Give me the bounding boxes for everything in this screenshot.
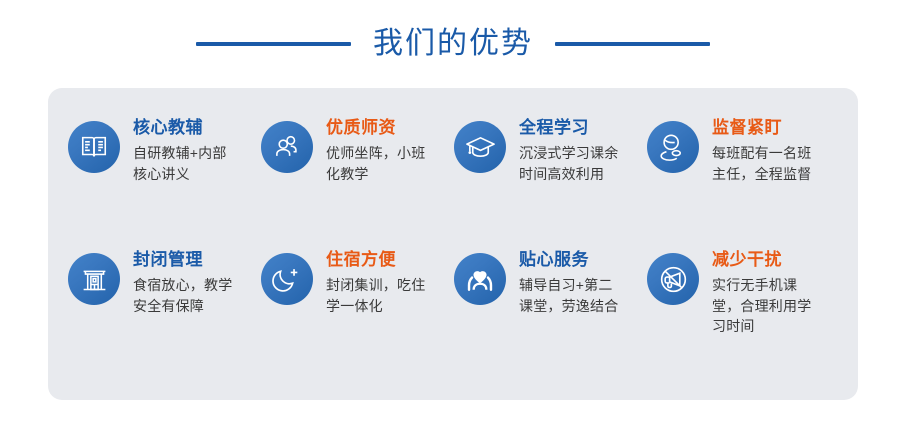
feature-title: 核心教辅 xyxy=(133,118,237,138)
feature-desc: 辅导自习+第二课堂，劳逸结合 xyxy=(519,275,623,316)
page-title: 我们的优势 xyxy=(373,29,533,59)
section-header: 我们的优势 xyxy=(0,0,906,88)
feature-item-full-study[interactable]: 全程学习 沉浸式学习课余时间高效利用 xyxy=(454,118,647,244)
feature-desc: 每班配有一名班主任，全程监督 xyxy=(712,143,816,184)
header-rule-right xyxy=(555,42,710,46)
feature-item-less-distraction[interactable]: 减少干扰 实行无手机课堂，合理利用学习时间 xyxy=(647,250,840,376)
feature-desc: 沉浸式学习课余时间高效利用 xyxy=(519,143,623,184)
feature-text: 减少干扰 实行无手机课堂，合理利用学习时间 xyxy=(712,250,816,336)
feature-title: 优质师资 xyxy=(326,118,430,138)
moon-plus-icon xyxy=(261,253,313,305)
graduation-cap-icon xyxy=(454,121,506,173)
feature-text: 核心教辅 自研教辅+内部核心讲义 xyxy=(133,118,237,184)
feature-item-core-materials[interactable]: 核心教辅 自研教辅+内部核心讲义 xyxy=(68,118,261,244)
feature-text: 优质师资 优师坐阵，小班化教学 xyxy=(326,118,430,184)
feature-title: 贴心服务 xyxy=(519,250,623,270)
hands-heart-icon xyxy=(454,253,506,305)
feature-desc: 优师坐阵，小班化教学 xyxy=(326,143,430,184)
advantages-grid: 核心教辅 自研教辅+内部核心讲义 优质师资 优师坐阵，小班化教学 xyxy=(68,118,840,376)
feature-title: 封闭管理 xyxy=(133,250,237,270)
feature-text: 住宿方便 封闭集训，吃住学一体化 xyxy=(326,250,430,316)
feature-title: 全程学习 xyxy=(519,118,623,138)
school-building-icon xyxy=(68,253,120,305)
feature-desc: 封闭集训，吃住学一体化 xyxy=(326,275,430,316)
feature-title: 监督紧盯 xyxy=(712,118,816,138)
feature-item-supervision[interactable]: 监督紧盯 每班配有一名班主任，全程监督 xyxy=(647,118,840,244)
feature-desc: 自研教辅+内部核心讲义 xyxy=(133,143,237,184)
feature-text: 贴心服务 辅导自习+第二课堂，劳逸结合 xyxy=(519,250,623,316)
advantages-panel: 核心教辅 自研教辅+内部核心讲义 优质师资 优师坐阵，小班化教学 xyxy=(48,88,858,400)
feature-text: 监督紧盯 每班配有一名班主任，全程监督 xyxy=(712,118,816,184)
feature-desc: 食宿放心，教学安全有保障 xyxy=(133,275,237,316)
feature-text: 全程学习 沉浸式学习课余时间高效利用 xyxy=(519,118,623,184)
feature-title: 住宿方便 xyxy=(326,250,430,270)
header-rule-left xyxy=(196,42,351,46)
feature-item-quality-teachers[interactable]: 优质师资 优师坐阵，小班化教学 xyxy=(261,118,454,244)
feature-desc: 实行无手机课堂，合理利用学习时间 xyxy=(712,275,816,336)
feature-item-closed-management[interactable]: 封闭管理 食宿放心，教学安全有保障 xyxy=(68,250,261,376)
feature-text: 封闭管理 食宿放心，教学安全有保障 xyxy=(133,250,237,316)
supervisor-person-icon xyxy=(647,121,699,173)
feature-item-caring-service[interactable]: 贴心服务 辅导自习+第二课堂，劳逸结合 xyxy=(454,250,647,376)
two-people-icon xyxy=(261,121,313,173)
no-megaphone-icon xyxy=(647,253,699,305)
feature-title: 减少干扰 xyxy=(712,250,816,270)
open-book-icon xyxy=(68,121,120,173)
feature-item-accommodation[interactable]: 住宿方便 封闭集训，吃住学一体化 xyxy=(261,250,454,376)
